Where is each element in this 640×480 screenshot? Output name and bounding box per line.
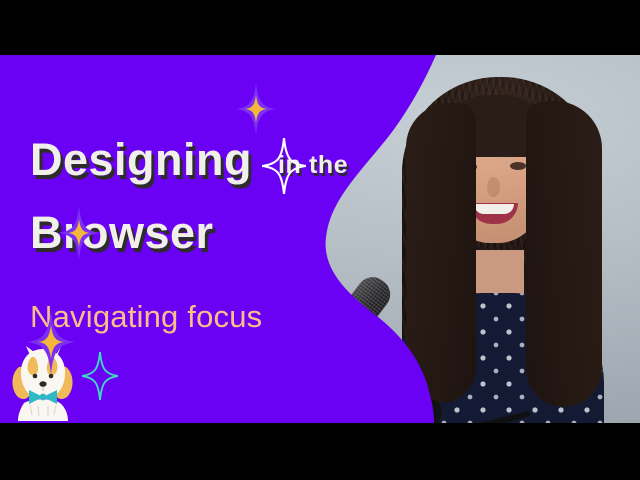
sparkle-white-outline [262,138,306,199]
hair-front-left [406,103,476,403]
letterbox-bottom [0,423,640,480]
sparkle-teal-outline [82,352,118,405]
sparkle-purple-gold-upper [236,83,276,140]
sparkle-purple-gold-lower [26,310,76,379]
letterbox-top [0,0,640,55]
video-content: Designing in the Browser Navigating focu… [0,55,640,423]
teeth [474,204,514,214]
hair-front-right [526,101,602,407]
nose [487,177,500,197]
title-line-1: Designing [30,134,252,186]
video-frame: Designing in the Browser Navigating focu… [0,0,640,480]
eye-right [510,162,526,170]
sparkle-purple-gold-mic [58,206,100,265]
